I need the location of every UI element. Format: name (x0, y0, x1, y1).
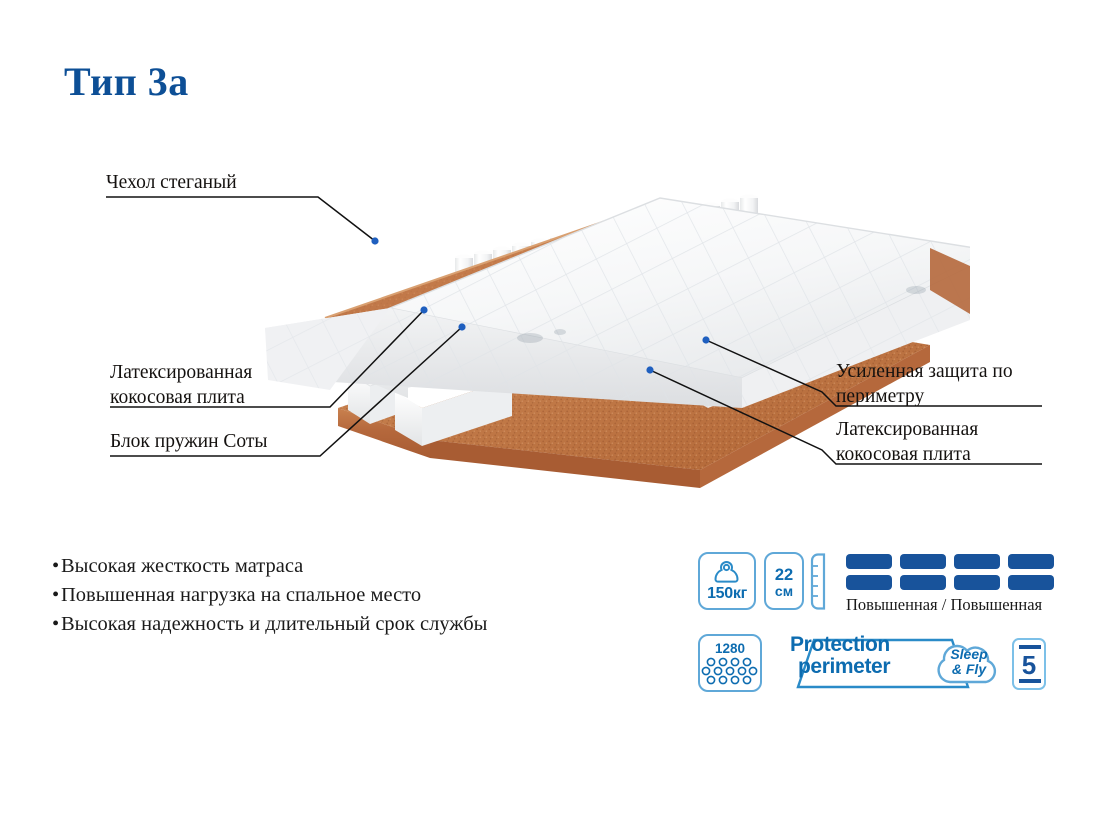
warranty-years-value: 5 (1014, 648, 1044, 682)
max-weight-badge: 150кг (698, 552, 756, 610)
bullet-marker: • (52, 610, 61, 639)
firmness-bar (846, 575, 892, 590)
firmness-bar (1008, 554, 1054, 569)
height-value: 22 (766, 567, 802, 583)
firmness-bar (900, 575, 946, 590)
warranty-bar-bottom (1019, 679, 1041, 683)
protection-perimeter-text: Protection perimeter (790, 634, 890, 678)
spring-count-value: 1280 (700, 641, 760, 656)
bullet-marker: • (52, 581, 61, 610)
firmness-indicator: Повышенная / Повышенная (846, 554, 1062, 615)
mattress-cutaway-illustration (230, 140, 970, 540)
firmness-bar (954, 554, 1000, 569)
poster-canvas: Тип 3а (0, 0, 1100, 814)
ruler-icon (810, 553, 826, 610)
firmness-bars (846, 554, 1062, 590)
callout-label-coir-bottom: Латексированная кокосовая плита (836, 417, 978, 467)
firmness-row (846, 575, 1062, 590)
brand-text: Sleep & Fly (930, 647, 1008, 677)
spring-grid-icon (701, 657, 761, 691)
firmness-bar (900, 554, 946, 569)
max-weight-value: 150кг (700, 585, 754, 603)
firmness-label: Повышенная / Повышенная (846, 595, 1062, 615)
callout-label-perimeter: Усиленная защита по периметру (836, 359, 1013, 409)
firmness-bar (954, 575, 1000, 590)
list-item: •Высокая надежность и длительный срок сл… (52, 610, 487, 639)
firmness-bar (1008, 575, 1054, 590)
spec-badges: 150кг 22 см (698, 552, 1068, 702)
height-unit: см (766, 584, 802, 599)
page-title: Тип 3а (64, 58, 189, 105)
brand-logo-sleep-and-fly: Sleep & Fly (930, 636, 1008, 690)
list-item: •Высокая жесткость матраса (52, 552, 487, 581)
callout-label-spring-block: Блок пружин Соты (110, 430, 268, 454)
spring-count-badge: 1280 (698, 634, 762, 692)
height-badge: 22 см (764, 552, 804, 610)
list-item: •Повышенная нагрузка на спальное место (52, 581, 487, 610)
firmness-bar (846, 554, 892, 569)
warranty-years-badge: 5 (1012, 638, 1046, 690)
feature-list: •Высокая жесткость матраса •Повышенная н… (52, 552, 487, 639)
bullet-marker: • (52, 552, 61, 581)
callout-label-coir-top: Латексированная кокосовая плита (110, 360, 252, 410)
callout-label-cover: Чехол стеганый (106, 171, 237, 195)
firmness-row (846, 554, 1062, 569)
